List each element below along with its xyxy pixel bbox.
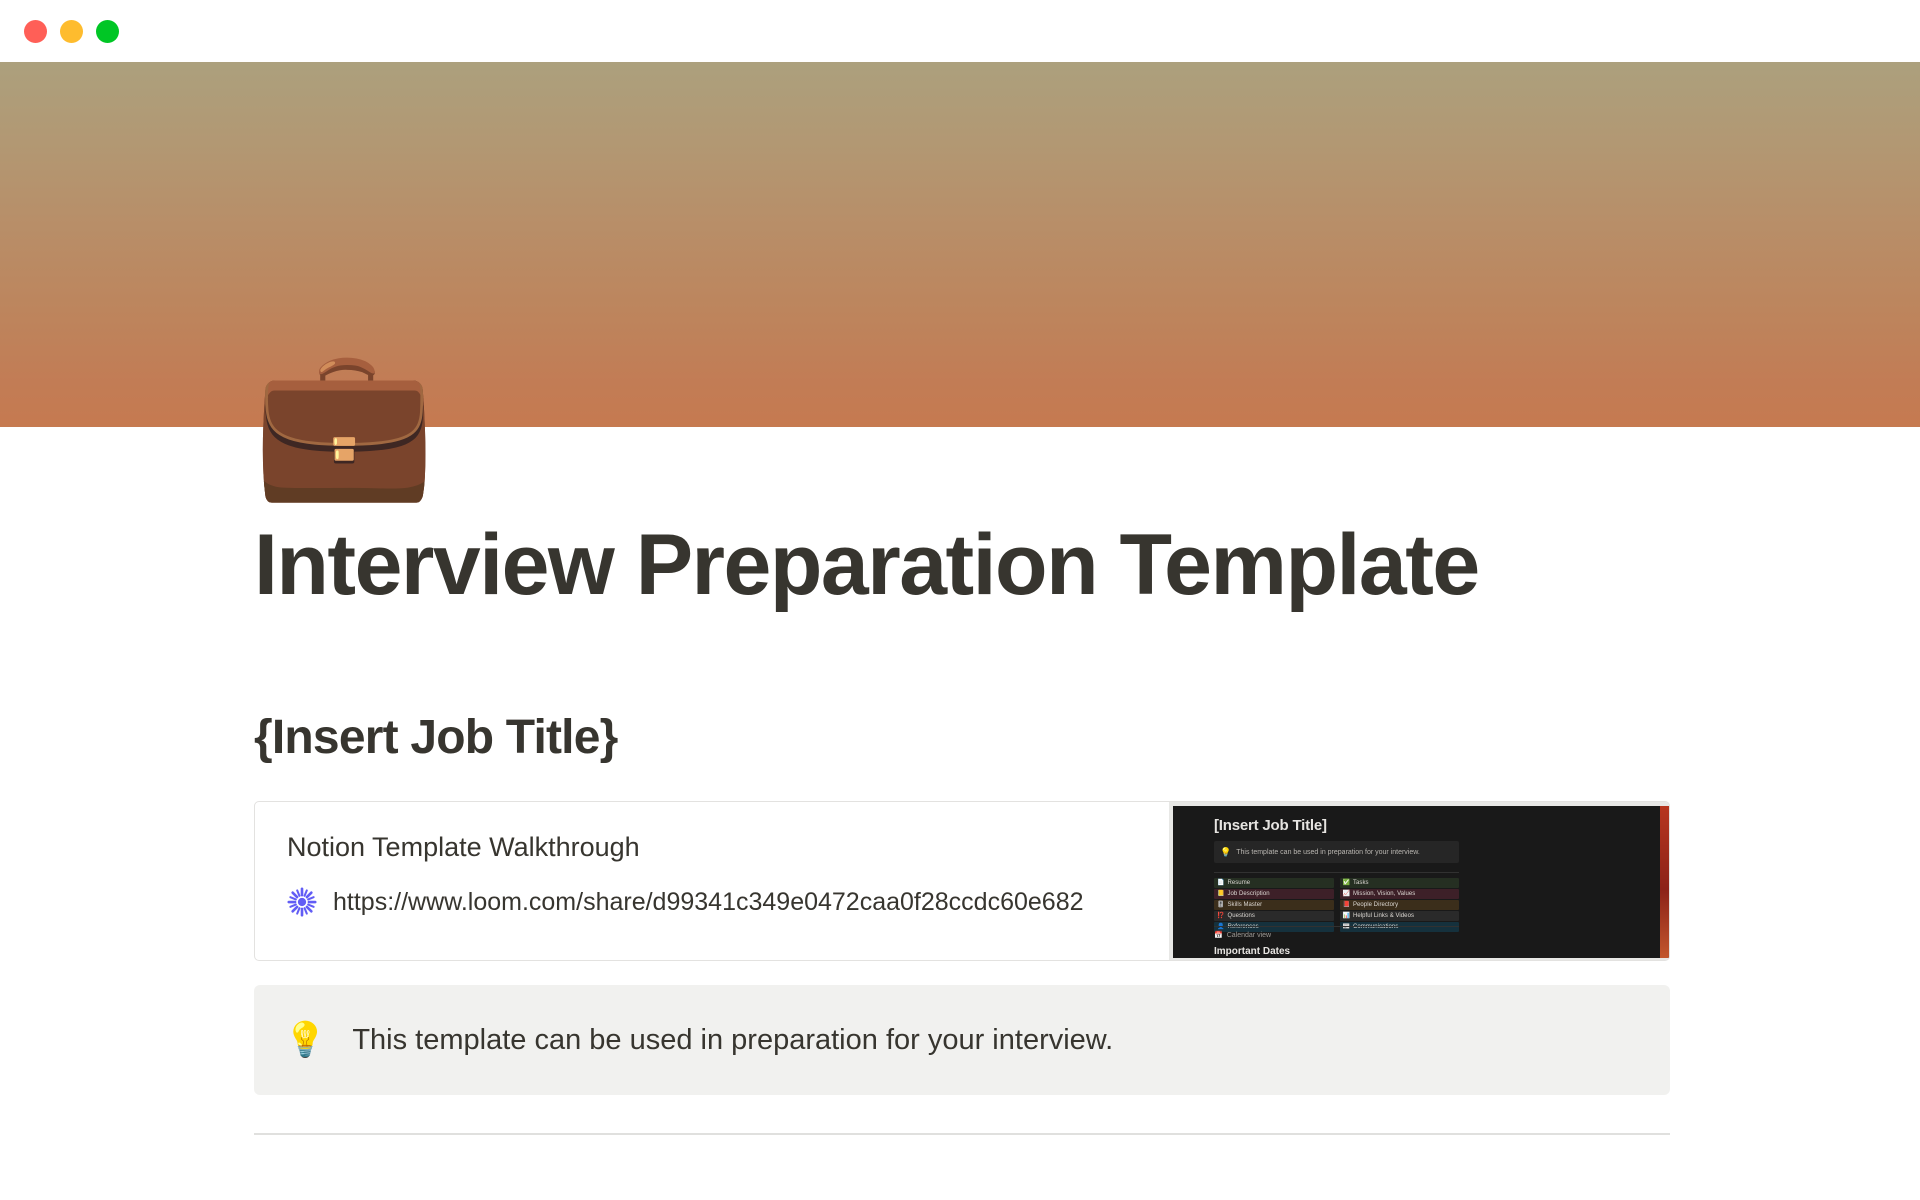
calendar-icon: 📅	[1214, 932, 1223, 939]
thumbnail-callout-text: This template can be used in preparation…	[1236, 849, 1420, 856]
thumbnail-view-tab-label: Calendar view	[1227, 932, 1271, 939]
thumbnail-link-label: Mission, Vision, Values	[1353, 891, 1415, 897]
lightbulb-emoji: 💡	[284, 1023, 326, 1057]
thumbnail-callout: 💡 This template can be used in preparati…	[1214, 841, 1459, 863]
thumbnail-link-label: Tasks	[1353, 880, 1369, 886]
bookmark-url-row: https://www.loom.com/share/d99341c349e04…	[287, 887, 1137, 917]
page-title[interactable]: Interview Preparation Template	[254, 520, 1670, 610]
thumbnail-link-row: 📄Resume	[1214, 878, 1334, 888]
thumbnail-link-label: Questions	[1227, 913, 1254, 919]
app-window: 💼 Interview Preparation Template {Insert…	[0, 0, 1920, 1200]
thumbnail-link-emoji: 📄	[1217, 880, 1224, 886]
thumbnail-subheading: Important Dates	[1214, 946, 1290, 957]
loom-starburst-icon	[287, 887, 317, 917]
thumbnail-link-emoji: 📈	[1343, 891, 1350, 897]
callout-block[interactable]: 💡 This template can be used in preparati…	[254, 985, 1670, 1095]
thumbnail-link-row: 📰Communications	[1340, 922, 1460, 932]
thumbnail-link-grid: 📄Resume📒Job Description🎚️Skills Master⁉️…	[1214, 878, 1459, 932]
thumbnail-link-label: References	[1227, 924, 1258, 930]
bookmark-card[interactable]: Notion Template Walkthrough	[254, 801, 1670, 961]
thumbnail-link-row: 📒Job Description	[1214, 889, 1334, 899]
thumbnail-link-emoji: 📊	[1343, 913, 1350, 919]
thumbnail-link-label: Helpful Links & Videos	[1353, 913, 1414, 919]
thumbnail-divider-bottom	[1214, 926, 1459, 927]
thumbnail-link-row: 📕People Directory	[1340, 900, 1460, 910]
thumbnail-link-column-right: ✅Tasks📈Mission, Vision, Values📕People Di…	[1340, 878, 1460, 932]
thumbnail-link-row: 🎚️Skills Master	[1214, 900, 1334, 910]
thumbnail-link-emoji: 🎚️	[1217, 902, 1224, 908]
bookmark-url[interactable]: https://www.loom.com/share/d99341c349e04…	[333, 888, 1084, 917]
thumbnail-link-emoji: ⁉️	[1217, 913, 1224, 919]
thumbnail-link-label: Skills Master	[1227, 902, 1262, 908]
thumbnail-link-label: Resume	[1227, 880, 1250, 886]
thumbnail-link-row: ✅Tasks	[1340, 878, 1460, 888]
close-window-button[interactable]	[24, 20, 47, 43]
bookmark-title: Notion Template Walkthrough	[287, 830, 1137, 865]
thumbnail-link-emoji: 📕	[1343, 902, 1350, 908]
thumbnail-calendar-view-tab: 📅 Calendar view	[1214, 932, 1271, 939]
maximize-window-button[interactable]	[96, 20, 119, 43]
thumbnail-link-emoji: 📰	[1343, 924, 1350, 930]
thumbnail-link-row: 📊Helpful Links & Videos	[1340, 911, 1460, 921]
bookmark-text-area: Notion Template Walkthrough	[255, 802, 1169, 960]
thumbnail-link-label: People Directory	[1353, 902, 1398, 908]
thumbnail-link-column-left: 📄Resume📒Job Description🎚️Skills Master⁉️…	[1214, 878, 1334, 932]
page-content: Interview Preparation Template {Insert J…	[0, 520, 1920, 1135]
briefcase-icon[interactable]: 💼	[252, 338, 420, 506]
content-divider	[254, 1133, 1670, 1135]
thumbnail-lightbulb-icon: 💡	[1220, 848, 1231, 857]
thumbnail-link-emoji: ✅	[1343, 880, 1350, 886]
thumbnail-link-row: 📈Mission, Vision, Values	[1340, 889, 1460, 899]
thumbnail-link-emoji: 👤	[1217, 924, 1224, 930]
thumbnail-link-row: ⁉️Questions	[1214, 911, 1334, 921]
traffic-light-group	[24, 20, 119, 43]
thumbnail-link-label: Job Description	[1227, 891, 1269, 897]
callout-text: This template can be used in preparation…	[352, 1021, 1113, 1060]
window-titlebar	[0, 0, 1920, 62]
thumbnail-heading: [Insert Job Title]	[1214, 817, 1327, 834]
section-heading-job-title[interactable]: {Insert Job Title}	[254, 712, 1670, 765]
thumbnail-notion-page-preview: [Insert Job Title] 💡 This template can b…	[1173, 806, 1669, 958]
thumbnail-link-label: Communications	[1353, 924, 1398, 930]
thumbnail-link-emoji: 📒	[1217, 891, 1224, 897]
bookmark-thumbnail[interactable]: [Insert Job Title] 💡 This template can b…	[1169, 802, 1669, 960]
thumbnail-accent-strip	[1660, 806, 1669, 958]
thumbnail-divider-top	[1214, 872, 1459, 873]
thumbnail-link-row: 👤References	[1214, 922, 1334, 932]
minimize-window-button[interactable]	[60, 20, 83, 43]
